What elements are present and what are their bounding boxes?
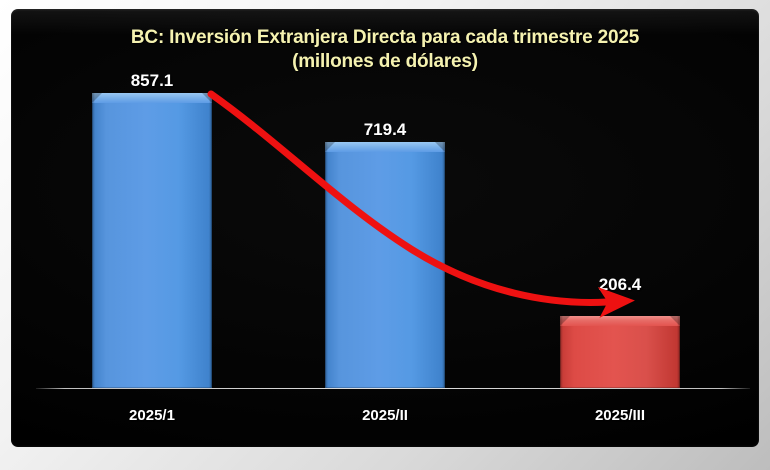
chart-title-line-1: BC: Inversión Extranjera Directa para ca…	[131, 27, 639, 48]
bar-edge-right	[677, 316, 680, 388]
bar-edge-left	[560, 316, 563, 388]
category-label-2: 2025/II	[325, 407, 445, 424]
bar-top-bevel	[92, 93, 212, 103]
bar-edge-right	[442, 142, 445, 388]
data-label-bar-3: 206.4	[560, 275, 680, 295]
chart-title: BC: Inversión Extranjera Directa para ca…	[11, 26, 759, 74]
bar-edge-left	[325, 142, 328, 388]
chart-frame: BC: Inversión Extranjera Directa para ca…	[0, 0, 770, 470]
bar-2025-II[interactable]	[325, 142, 445, 388]
data-label-bar-2: 719.4	[325, 120, 445, 140]
category-label-3: 2025/III	[560, 407, 680, 424]
bar-2025-III[interactable]	[560, 316, 680, 388]
bar-face	[92, 93, 212, 388]
data-label-bar-1: 857.1	[92, 71, 212, 91]
bar-top-bevel	[325, 142, 445, 152]
chart-plot-panel: BC: Inversión Extranjera Directa para ca…	[11, 9, 759, 447]
bar-top-bevel	[560, 316, 680, 326]
x-axis-line	[36, 388, 750, 389]
bar-face	[325, 142, 445, 388]
bar-edge-left	[92, 93, 95, 388]
bar-2025-1[interactable]	[92, 93, 212, 388]
bar-edge-right	[209, 93, 212, 388]
bar-face	[560, 316, 680, 388]
category-label-1: 2025/1	[92, 407, 212, 424]
